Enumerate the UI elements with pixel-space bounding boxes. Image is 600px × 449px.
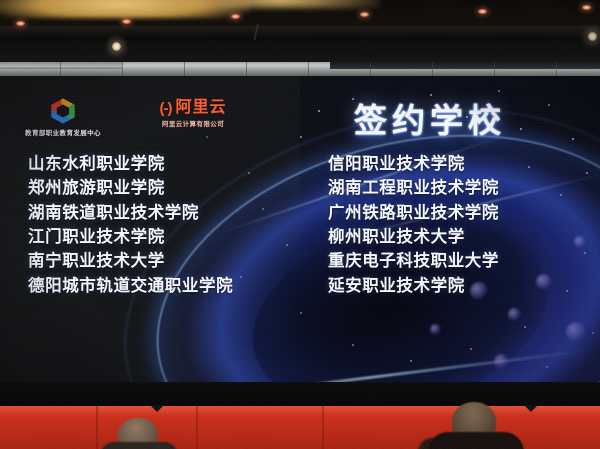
rail-seam [184,62,185,76]
rail-seam [308,62,309,76]
school-item: 江门职业技术学院 [28,229,233,246]
screen-top-rail-step [0,62,122,69]
school-item: 湖南工程职业技术学院 [328,180,499,197]
rail-seam [246,62,247,76]
stage-fold [96,406,98,449]
school-list-right: 信阳职业技术学院 湖南工程职业技术学院 广州铁路职业技术学院 柳州职业技术大学 … [328,156,499,295]
aliyun-bracket-icon: (-) [159,101,171,116]
person-shoulders [100,442,178,449]
ceiling-pendant-light-icon [112,42,121,51]
ceiling-downlight-icon [582,5,591,10]
alibaba-cloud-caption: 阿里云计算有限公司 [118,118,268,128]
ceiling-downlight-icon [478,9,487,14]
school-item: 信阳职业技术学院 [328,156,499,173]
ceiling-band [0,26,600,40]
ceiling [0,0,600,62]
aliyun-wordmark: 阿里云 [175,100,226,116]
ceiling-downlight-icon [16,21,25,26]
stage-fold [322,406,324,449]
school-item: 重庆电子科技职业大学 [328,253,499,270]
school-item: 德阳城市轨道交通职业学院 [28,278,233,295]
rail-seam [122,62,123,76]
stage-apron-shadow [0,382,600,406]
school-item: 柳州职业技术大学 [328,229,499,246]
logo-row: 教育部职业教育发展中心 (-) 阿里云 阿里云计算有限公司 [0,98,300,146]
rail-seam [556,62,557,76]
school-item: 郑州旅游职业学院 [28,180,233,197]
moe-logo-caption: 教育部职业教育发展中心 [10,127,116,137]
rail-seam [432,62,433,76]
alibaba-cloud-logo-block: (-) 阿里云 阿里云计算有限公司 [118,100,268,128]
school-list-left: 山东水利职业学院 郑州旅游职业学院 湖南铁道职业技术学院 江门职业技术学院 南宁… [28,156,233,295]
stage-photo-scene: 教育部职业教育发展中心 (-) 阿里云 阿里云计算有限公司 签约学校 山东水利职… [0,0,600,449]
school-item: 南宁职业技术大学 [28,253,233,270]
person-shoulders [428,432,524,449]
stage-edge-highlight [0,406,600,416]
school-item: 广州铁路职业技术学院 [328,205,499,222]
aliyun-mark: (-) 阿里云 [118,100,268,116]
ceiling-pendant-light-icon [588,32,597,41]
ceiling-downlight-icon [360,12,369,17]
ceiling-warm-cove-light-secondary [180,0,380,8]
school-item: 湖南铁道职业技术学院 [28,205,233,222]
ceiling-downlight-icon [231,14,240,19]
ceiling-downlight-icon [122,19,131,24]
slide-title: 签约学校 [300,94,560,142]
school-item: 延安职业技术学院 [328,278,499,295]
moe-logo-block: 教育部职业教育发展中心 [10,98,116,137]
rail-seam [60,62,61,76]
hexagon-cube-icon [50,98,76,124]
rail-seam [494,62,495,76]
school-item: 山东水利职业学院 [28,156,233,173]
led-presentation-screen: 教育部职业教育发展中心 (-) 阿里云 阿里云计算有限公司 签约学校 山东水利职… [0,76,600,382]
stage-fold [196,406,198,449]
rail-seam [370,62,371,76]
